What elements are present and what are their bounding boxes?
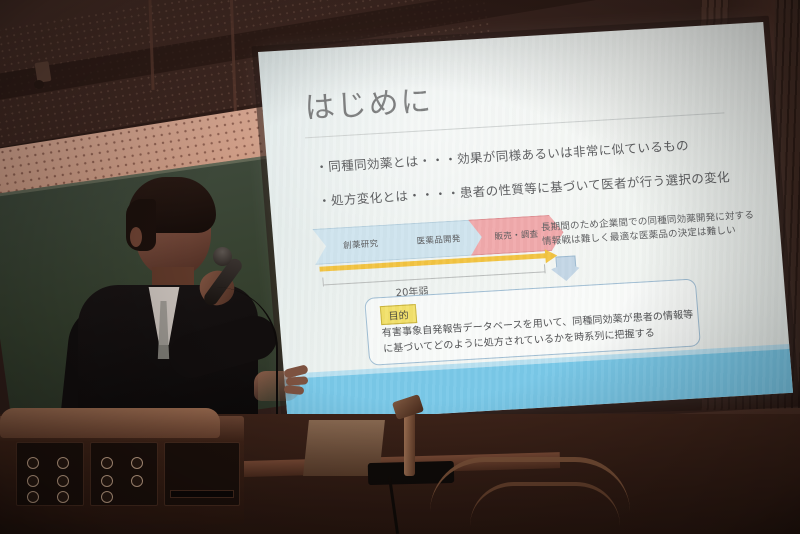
rca-jack[interactable] [27, 491, 39, 503]
rca-jack[interactable] [101, 475, 113, 487]
rca-jack[interactable] [101, 491, 113, 503]
rca-jack[interactable] [57, 475, 69, 487]
presenter-ear [130, 227, 142, 247]
connector-panel-center[interactable] [90, 442, 158, 506]
rca-jack[interactable] [27, 457, 39, 469]
rca-jack[interactable] [101, 457, 113, 469]
presentation-slide: はじめに ・同種同効薬とは・・・効果が同様あるいは非常に似ているもの ・処方変化… [258, 22, 793, 423]
presenter-finger [286, 376, 309, 386]
rca-jack[interactable] [57, 491, 69, 503]
black-cable [388, 476, 399, 534]
rca-jack[interactable] [131, 457, 143, 469]
media-slot [170, 490, 234, 498]
spotlight-lens-icon [34, 80, 44, 89]
rca-jack[interactable] [131, 475, 143, 487]
connector-panel-left[interactable] [16, 442, 84, 506]
av-equipment-rack [0, 416, 244, 524]
screen-sheen [258, 22, 793, 423]
rca-jack[interactable] [57, 457, 69, 469]
document-camera-arm [404, 410, 415, 476]
rack-lid [0, 408, 220, 438]
foreground-desk [0, 414, 800, 534]
rca-jack[interactable] [27, 475, 39, 487]
foreground-cable-secondary [470, 482, 620, 526]
lecture-hall-photo: はじめに ・同種同効薬とは・・・効果が同様あるいは非常に似ているもの ・処方変化… [0, 0, 800, 534]
projection-screen: はじめに ・同種同効薬とは・・・効果が同様あるいは非常に似ているもの ・処方変化… [258, 22, 794, 431]
